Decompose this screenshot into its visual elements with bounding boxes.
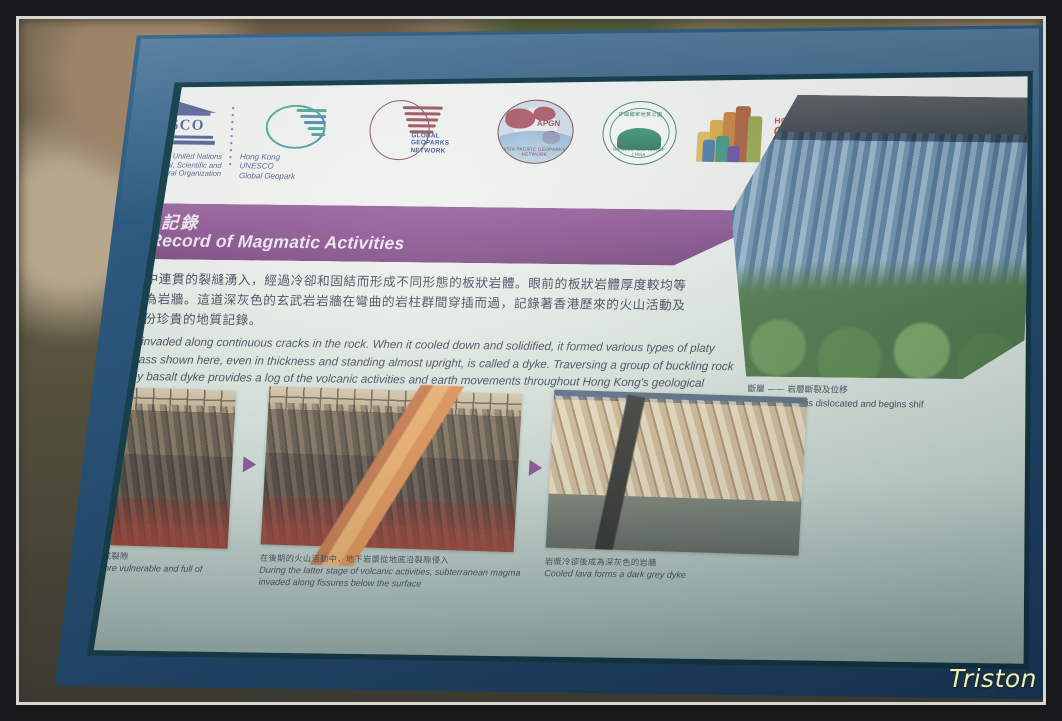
photograph: UNESCO United NationsEducational, Scient…	[19, 19, 1043, 702]
step-caption-2: 在後期的火山活動中，地下岩漿從地底沿裂隙侵入 During the latter…	[258, 553, 522, 591]
step-caption-3: 岩漿冷卻後成為深灰色的岩牆 Cooled lava forms a dark g…	[544, 556, 807, 583]
apgn-logo: APGN ASIA PACIFIC GEOPARKS NETWORK	[482, 99, 590, 164]
photographer-watermark: Triston	[949, 664, 1037, 693]
step-arrow-icon	[529, 460, 543, 476]
china-geopark-caption-en: NATIONAL GEOPARK OF CHINA	[608, 147, 669, 158]
apgn-caption: ASIA PACIFIC GEOPARKS NETWORK	[501, 146, 568, 157]
apgn-globe-icon: APGN ASIA PACIFIC GEOPARKS NETWORK	[496, 99, 576, 164]
magma-intrusion-illustration	[261, 386, 522, 552]
interpretive-sign-panel: UNESCO United NationsEducational, Scient…	[19, 63, 1043, 677]
photo-outer-frame: UNESCO United NationsEducational, Scient…	[0, 0, 1062, 721]
step3-caption-en: Cooled lava forms a dark grey dyke	[544, 569, 807, 584]
geopark-globe-icon	[264, 98, 329, 149]
china-geopark-logo: 中國國家地質公園 NATIONAL GEOPARK OF CHINA	[586, 100, 694, 165]
magma-dyke-intrusion	[245, 379, 568, 572]
step2-caption-en: During the latter stage of volcanic acti…	[258, 565, 521, 591]
china-geopark-caption-zh: 中國國家地質公園	[612, 111, 668, 119]
china-geopark-seal-icon: 中國國家地質公園 NATIONAL GEOPARK OF CHINA	[601, 101, 679, 166]
ground-region	[546, 494, 802, 556]
hk-unesco-caption: Hong KongUNESCOGlobal Geopark	[239, 152, 351, 182]
hk-unesco-global-geopark-logo: Hong KongUNESCOGlobal Geopark	[239, 96, 354, 182]
ggn-globe-icon: GLOBALGEOPARKSNETWORK	[366, 98, 473, 161]
global-geoparks-network-logo: GLOBALGEOPARKSNETWORK	[354, 98, 485, 162]
photo-vegetation-region	[722, 303, 1026, 380]
curved-rock-bands	[549, 396, 807, 505]
apgn-wordmark: APGN	[537, 119, 561, 128]
ggn-caption: GLOBALGEOPARKSNETWORK	[410, 132, 471, 155]
basalt-columns-icon	[694, 102, 769, 163]
cooled-dyke-photo	[546, 390, 807, 556]
